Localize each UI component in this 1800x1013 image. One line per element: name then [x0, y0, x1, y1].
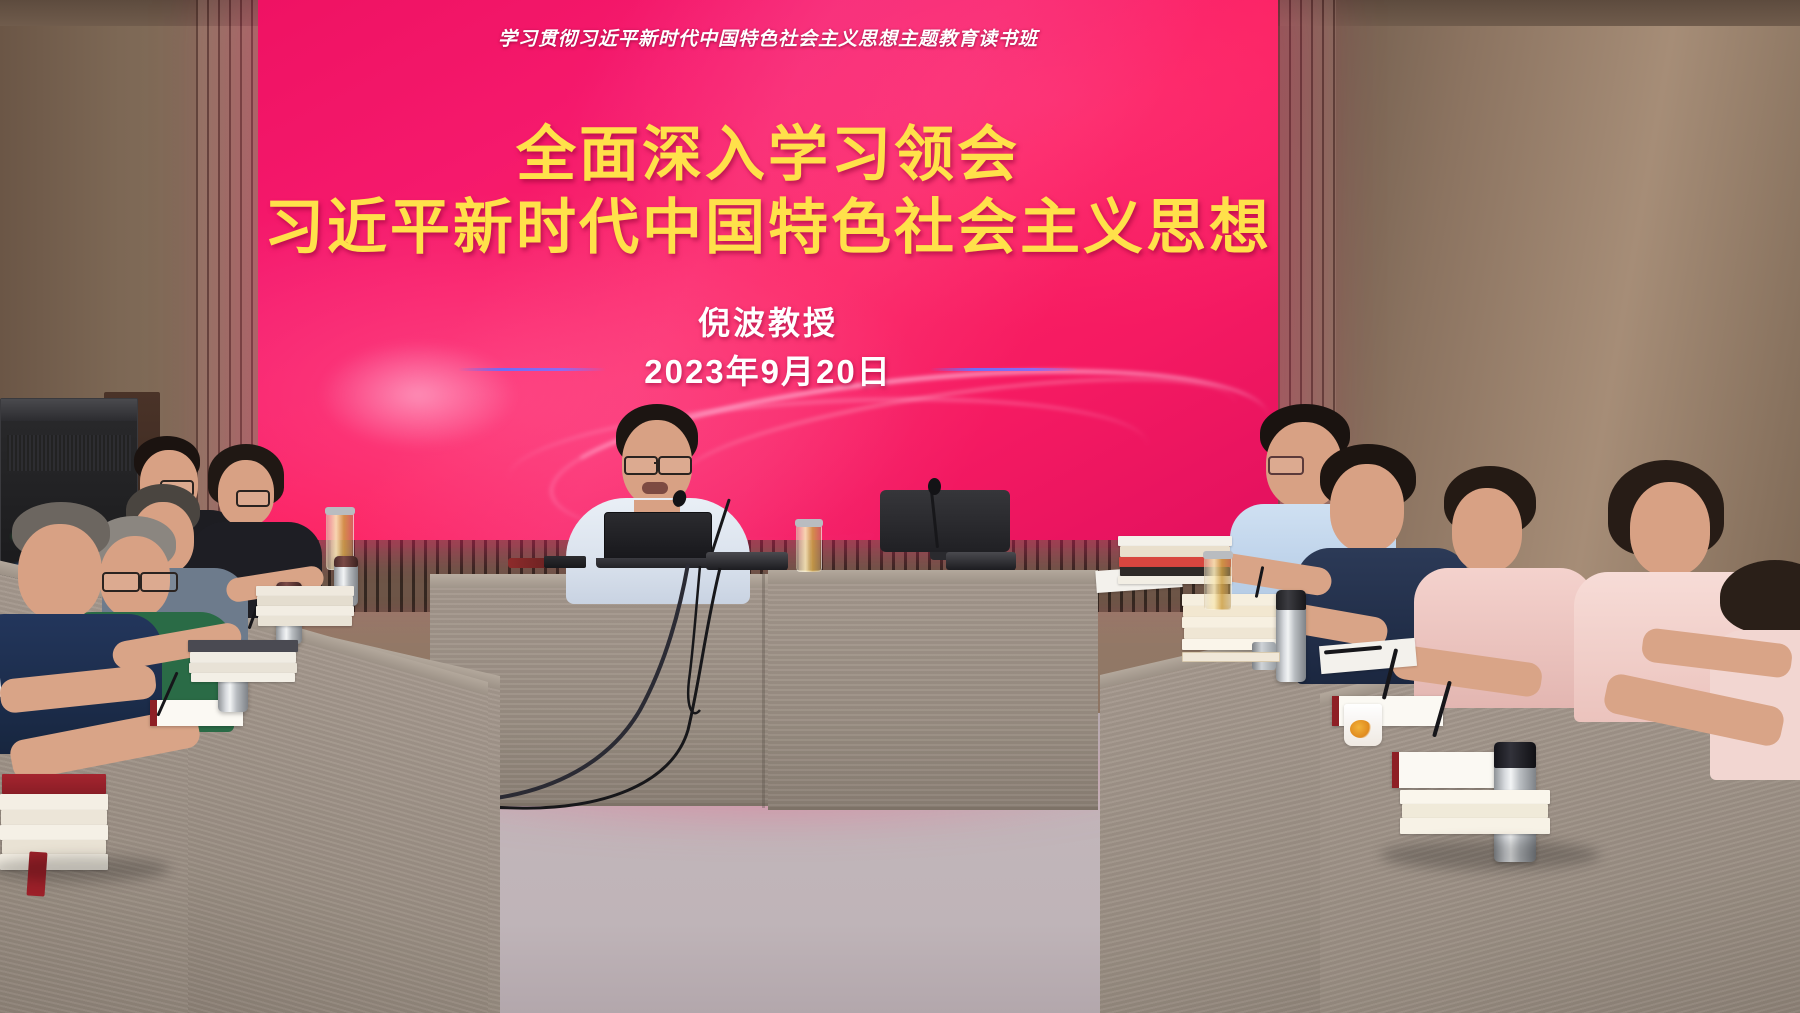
book-left-mid-3: [189, 663, 297, 673]
cable-loop: [688, 566, 700, 713]
participant-right-2-head: [1330, 464, 1404, 552]
slide-date-text: 2023年9月20日: [644, 345, 891, 393]
book-stack-right-foreground: [1400, 790, 1550, 834]
slide-date-row: 2023年9月20日: [258, 345, 1278, 393]
slide-title-line-2: 习近平新时代中国特色社会主义思想: [258, 191, 1278, 264]
participant-left-4-glasses: [236, 490, 270, 507]
participant-left-1-head: [18, 524, 102, 620]
tea-jar-lid: [795, 519, 823, 527]
thermos-right-1-cap: [1276, 590, 1306, 610]
paper-cup-right-1-print: [1350, 720, 1372, 738]
thermos-right-2-cap: [1494, 742, 1536, 768]
book-left-back-4: [258, 616, 352, 626]
presenter-glasses-right-lens: [658, 456, 692, 475]
book-right-back-1: [1118, 536, 1232, 546]
shadow-right-foreground: [1380, 840, 1600, 870]
slide-title-line-1: 全面深入学习领会: [258, 118, 1278, 191]
microphone-left-stem: [710, 498, 731, 554]
slide-header-text: 学习贯彻习近平新时代中国特色社会主义思想主题教育读书班: [258, 24, 1278, 51]
book-left-back-2: [257, 596, 353, 606]
slide-title: 全面深入学习领会 习近平新时代中国特色社会主义思想: [258, 118, 1278, 264]
decorative-line-right: [930, 368, 1078, 371]
book-left-back-3: [256, 606, 354, 616]
presenter-glasses-left-lens: [624, 456, 658, 475]
thermos-right-1[interactable]: [1276, 590, 1306, 682]
book-left-mid-1: [188, 640, 298, 652]
paper-cup-right-1[interactable]: [1344, 704, 1382, 746]
white-book-2: [1, 810, 107, 825]
book-stack-left-back: [256, 586, 354, 626]
book-stack-left-mid: [188, 640, 298, 682]
decorative-line-left: [458, 368, 606, 371]
thermos-left-3-cap: [334, 556, 358, 567]
tea-jar-right-1[interactable]: [1204, 556, 1232, 610]
tea-jar-left-lid: [325, 507, 355, 515]
book-left-mid-4: [191, 673, 295, 682]
laptop-brand-mark: [646, 541, 668, 547]
book-right-fg-3: [1400, 818, 1550, 834]
white-book-1: [0, 794, 108, 810]
tea-jar-right-1-lid: [1203, 551, 1233, 559]
presenter-glasses-bridge: [654, 462, 660, 464]
book-right-fg-2: [1402, 804, 1548, 818]
conference-room-photo: 学习贯彻习近平新时代中国特色社会主义思想主题教育读书班 全面深入学习领会 习近平…: [0, 0, 1800, 1013]
book-left-back-1: [256, 586, 354, 596]
participant-right-1-glasses: [1268, 456, 1304, 475]
white-book-4: [2, 840, 106, 854]
participant-right-5-hair: [1720, 560, 1800, 634]
microphone-right-capsule: [928, 478, 941, 495]
book-right-fg-1: [1400, 790, 1550, 804]
participant-right-3-head: [1452, 488, 1522, 572]
white-book-3: [0, 825, 108, 840]
slide-presenter-name: 倪波教授: [258, 298, 1278, 344]
led-screen: 学习贯彻习近平新时代中国特色社会主义思想主题教育读书班 全面深入学习领会 习近平…: [258, 0, 1278, 548]
participant-right-4-head: [1630, 482, 1710, 576]
rack-top-panel: [1, 399, 137, 421]
rack-vent-grille: [7, 435, 131, 471]
microphone-right-base: [946, 552, 1016, 570]
nameplate-right: [1182, 652, 1280, 662]
book-left-mid-2: [190, 652, 296, 663]
presenter-mouth: [642, 482, 668, 494]
red-book-1: [2, 774, 106, 794]
